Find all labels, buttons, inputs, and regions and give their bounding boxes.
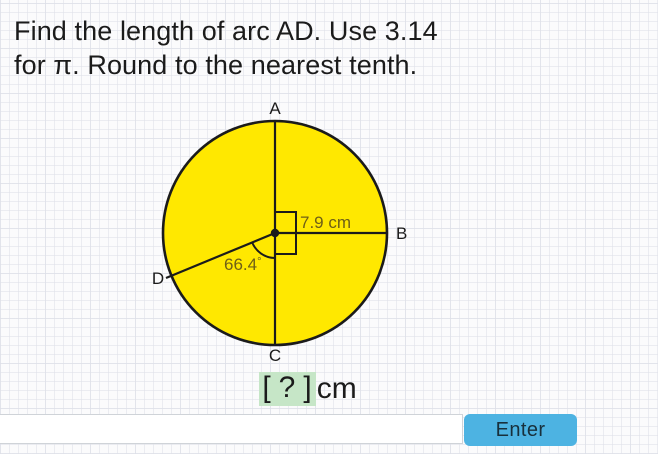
bracket-open: [ — [262, 373, 271, 403]
point-label-a: A — [269, 99, 281, 118]
circle-diagram: A B C D 7.9 cm 66.4° — [140, 96, 420, 366]
question-prompt: Find the length of arc AD. Use 3.14 for … — [14, 14, 614, 82]
angle-measure-label: 66.4° — [224, 255, 262, 274]
degree-symbol: ° — [257, 256, 261, 268]
answer-row: [?] cm — [259, 372, 356, 406]
point-label-b: B — [396, 224, 407, 243]
radius-measure-label: 7.9 cm — [300, 213, 351, 232]
enter-button[interactable]: Enter — [464, 414, 577, 446]
blank-placeholder: ? — [272, 373, 304, 403]
answer-input[interactable] — [0, 414, 463, 444]
point-label-c: C — [269, 346, 281, 365]
figure-container: A B C D 7.9 cm 66.4° — [0, 96, 658, 366]
answer-blank-field[interactable]: [?] — [259, 372, 315, 406]
answer-unit-label: cm — [317, 374, 357, 404]
answer-line: [?] cm — [0, 368, 658, 410]
bracket-close: ] — [303, 373, 312, 403]
point-label-d: D — [152, 269, 164, 288]
angle-measure-value: 66.4 — [224, 255, 257, 274]
entry-bar: Enter — [0, 414, 658, 448]
center-point-dot — [271, 229, 279, 237]
